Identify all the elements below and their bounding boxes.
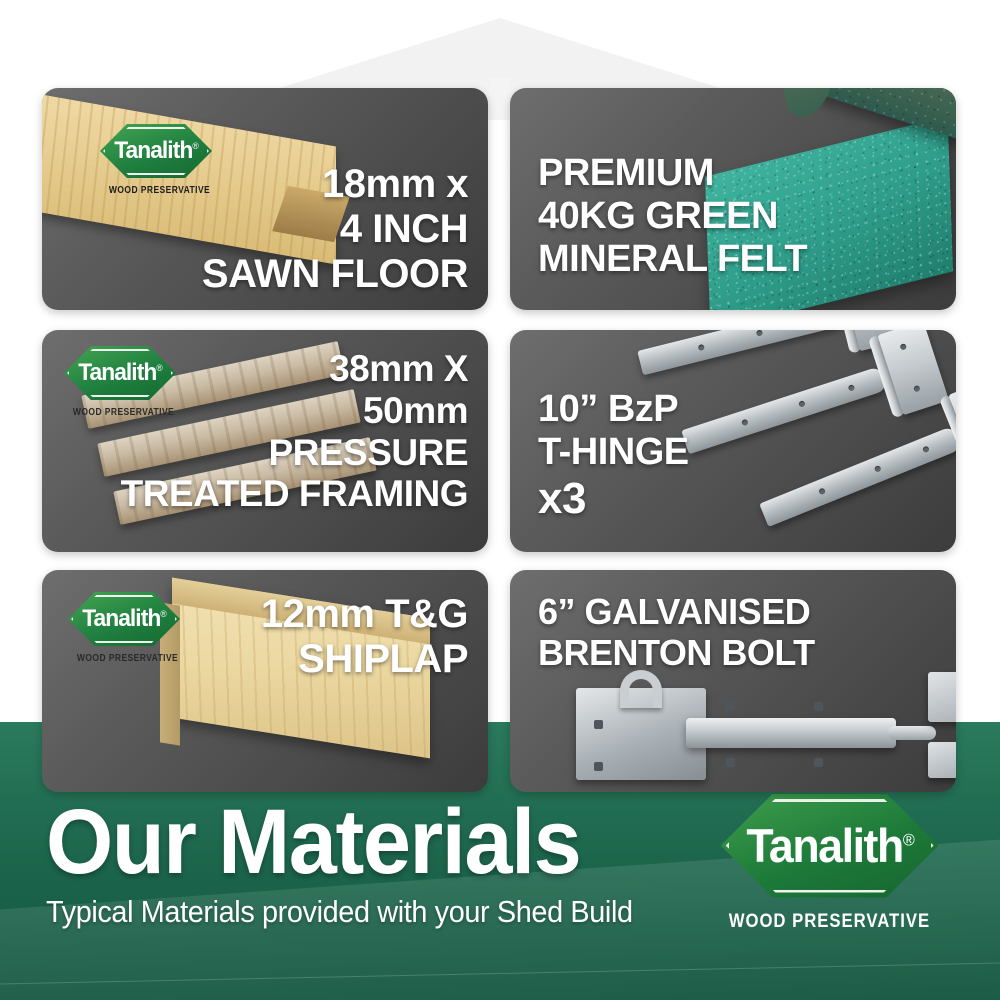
card-pressure-treated-framing[interactable]: Tanalith® WOOD PRESERVATIVE 38mm X 50mm … [42, 330, 488, 552]
roof-post-shape [489, 78, 511, 120]
tanalith-logo-footer: Tanalith® WOOD PRESERVATIVE [715, 794, 944, 933]
tanalith-logo-card-5: Tanalith® WOOD PRESERVATIVE [68, 592, 187, 664]
tanalith-hexagon-badge-icon: Tanalith® [721, 794, 939, 898]
card-label-shiplap: 12mm T&G SHIPLAP [261, 592, 468, 682]
card-sawn-floor[interactable]: Tanalith® WOOD PRESERVATIVE 18mm x 4 INC… [42, 88, 488, 310]
tanalith-tagline: WOOD PRESERVATIVE [77, 653, 178, 664]
banner-title: Our Materials [46, 798, 639, 886]
tanalith-hexagon-badge-icon: Tanalith® [100, 124, 212, 178]
banner-subtitle: Typical Materials provided with your She… [46, 894, 633, 930]
tanalith-wordmark: Tanalith® [746, 818, 913, 873]
card-mineral-felt[interactable]: PREMIUM 40KG GREEN MINERAL FELT [510, 88, 956, 310]
brenton-bolt-image [576, 666, 956, 792]
card-label-brenton-bolt: 6” GALVANISED BRENTON BOLT [538, 592, 815, 673]
card-label-sawn-floor: 18mm x 4 INCH SAWN FLOOR [202, 162, 468, 298]
card-label-pressure-treated-framing: 38mm X 50mm PRESSURE TREATED FRAMING [121, 348, 468, 515]
card-brenton-bolt[interactable]: 6” GALVANISED BRENTON BOLT [510, 570, 956, 792]
tanalith-tagline: WOOD PRESERVATIVE [729, 911, 930, 933]
banner-text-block: Our Materials Typical Materials provided… [46, 792, 677, 930]
registered-mark: ® [903, 830, 913, 849]
card-label-mineral-felt: PREMIUM 40KG GREEN MINERAL FELT [538, 152, 807, 281]
tanalith-hexagon-badge-icon: Tanalith® [68, 592, 180, 646]
card-t-hinge[interactable]: 10” BzP T-HINGE x3 [510, 330, 956, 552]
card-shiplap[interactable]: Tanalith® WOOD PRESERVATIVE 12mm T&G SHI… [42, 570, 488, 792]
tanalith-tagline: WOOD PRESERVATIVE [109, 185, 210, 196]
card-label-t-hinge: 10” BzP T-HINGE x3 [538, 388, 689, 524]
